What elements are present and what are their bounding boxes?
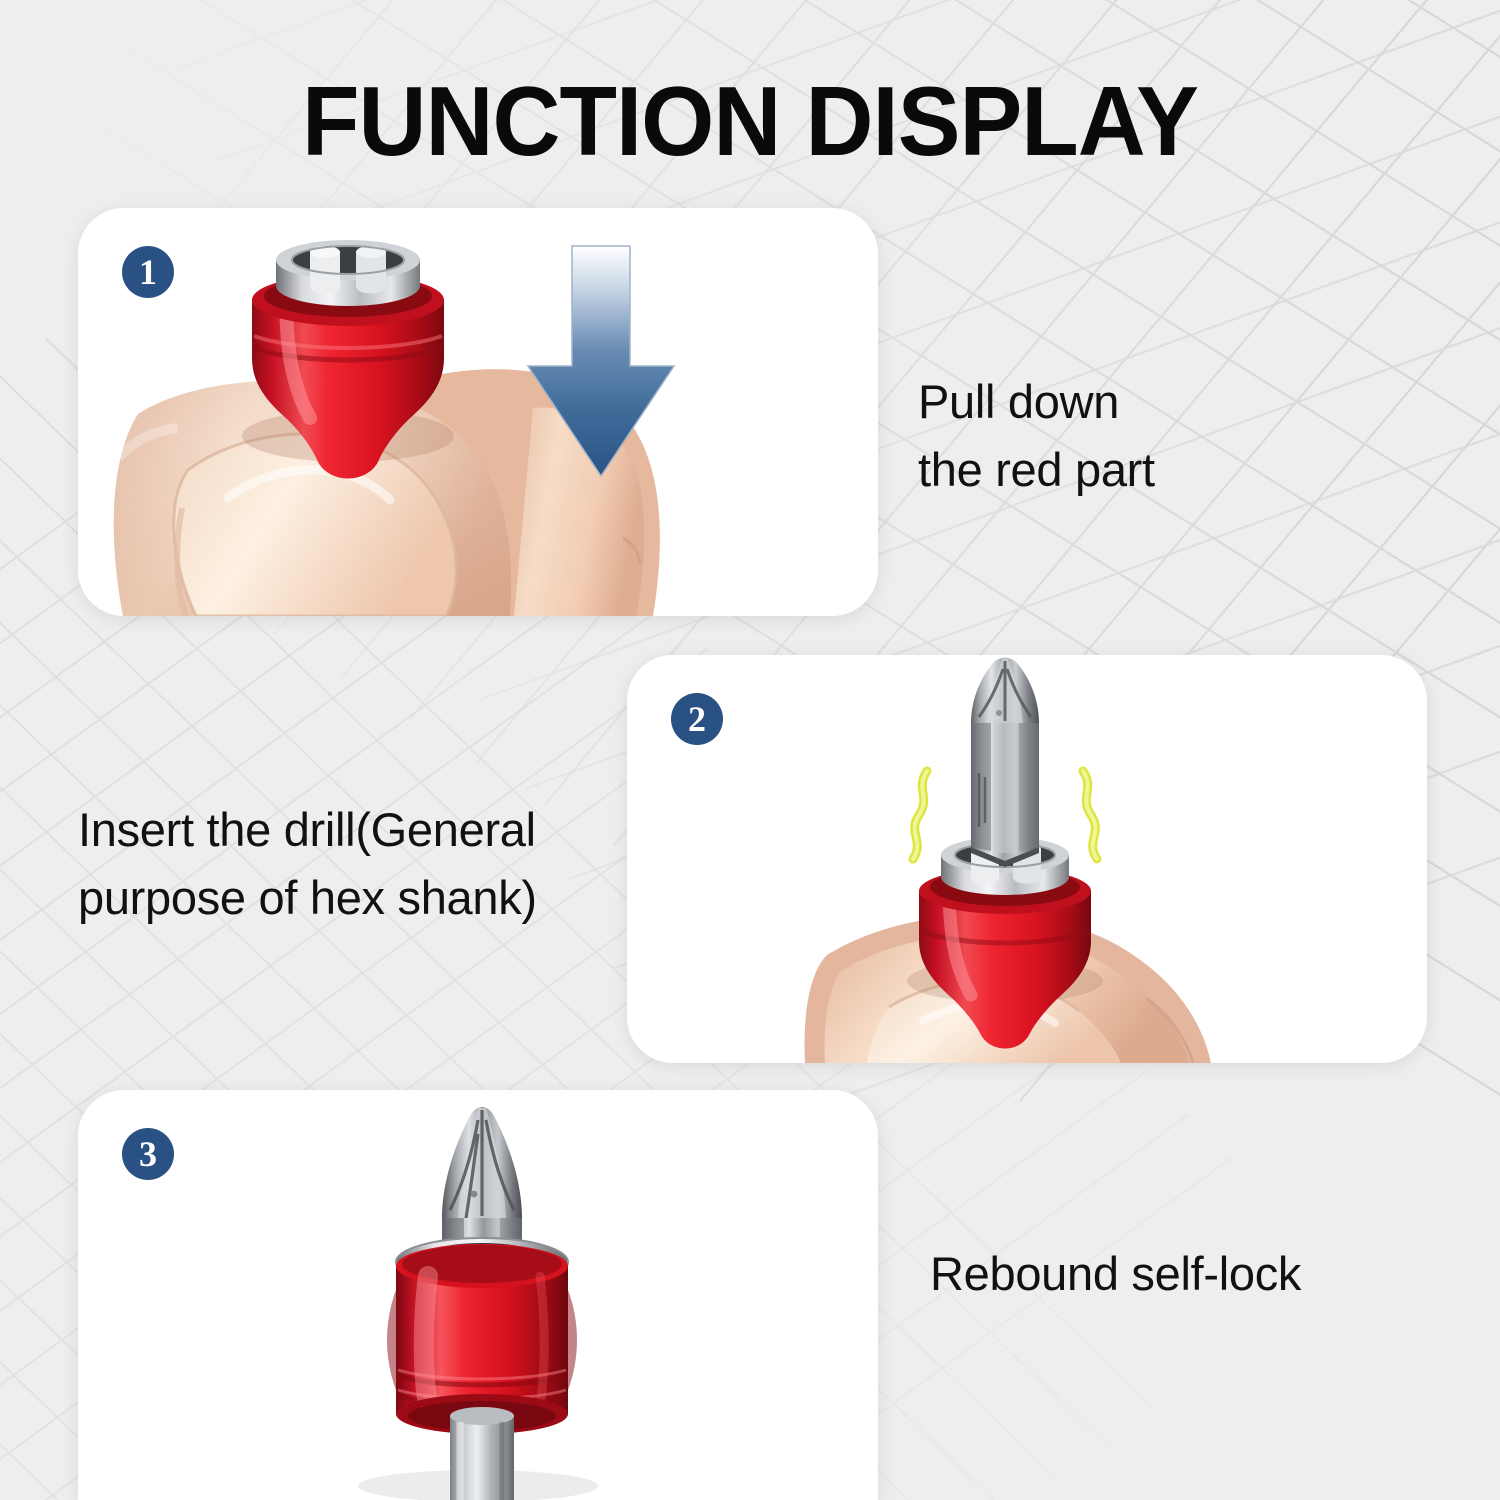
step-3-photo: [78, 1090, 878, 1500]
step-1-photo: [78, 208, 878, 616]
steel-hex-socket: [276, 240, 420, 306]
steel-shaft: [450, 1407, 514, 1500]
step-caption-3: Rebound self-lock: [930, 1240, 1450, 1308]
step-2-photo: [627, 655, 1427, 1063]
step-card-3: 3: [78, 1090, 878, 1500]
step-badge-2: 2: [671, 693, 723, 745]
step-badge-1: 1: [122, 246, 174, 298]
phillips-bit-icon: [971, 657, 1039, 867]
red-chuck-collar: [387, 1244, 577, 1434]
step-caption-1: Pull down the red part: [918, 368, 1438, 504]
step-card-1: 1: [78, 208, 878, 616]
step-card-2: 2: [627, 655, 1427, 1063]
step-badge-3: 3: [122, 1128, 174, 1180]
step-caption-2: Insert the drill(General purpose of hex …: [78, 796, 638, 932]
page-title: FUNCTION DISPLAY: [30, 72, 1470, 170]
